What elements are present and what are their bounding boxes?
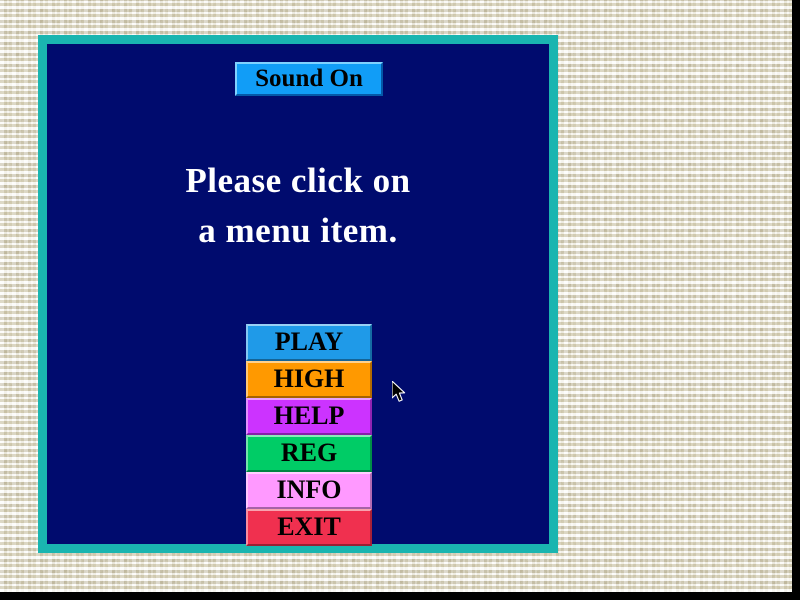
- menu-button-high[interactable]: HIGH: [246, 361, 372, 398]
- prompt-message: Please click on a menu item.: [47, 156, 549, 256]
- prompt-line-2: a menu item.: [47, 206, 549, 256]
- game-panel-frame: Sound On Please click on a menu item. PL…: [38, 35, 558, 553]
- menu-button-play[interactable]: PLAY: [246, 324, 372, 361]
- menu-button-exit[interactable]: EXIT: [246, 509, 372, 546]
- mouse-cursor-icon: [392, 381, 408, 405]
- sound-toggle-button[interactable]: Sound On: [235, 62, 383, 96]
- menu-button-reg[interactable]: REG: [246, 435, 372, 472]
- main-menu: PLAYHIGHHELPREGINFOEXIT: [246, 324, 372, 546]
- menu-button-help[interactable]: HELP: [246, 398, 372, 435]
- menu-button-info[interactable]: INFO: [246, 472, 372, 509]
- game-panel: Sound On Please click on a menu item. PL…: [47, 44, 549, 544]
- app-window: Sound On Please click on a menu item. PL…: [0, 0, 800, 600]
- prompt-line-1: Please click on: [47, 156, 549, 206]
